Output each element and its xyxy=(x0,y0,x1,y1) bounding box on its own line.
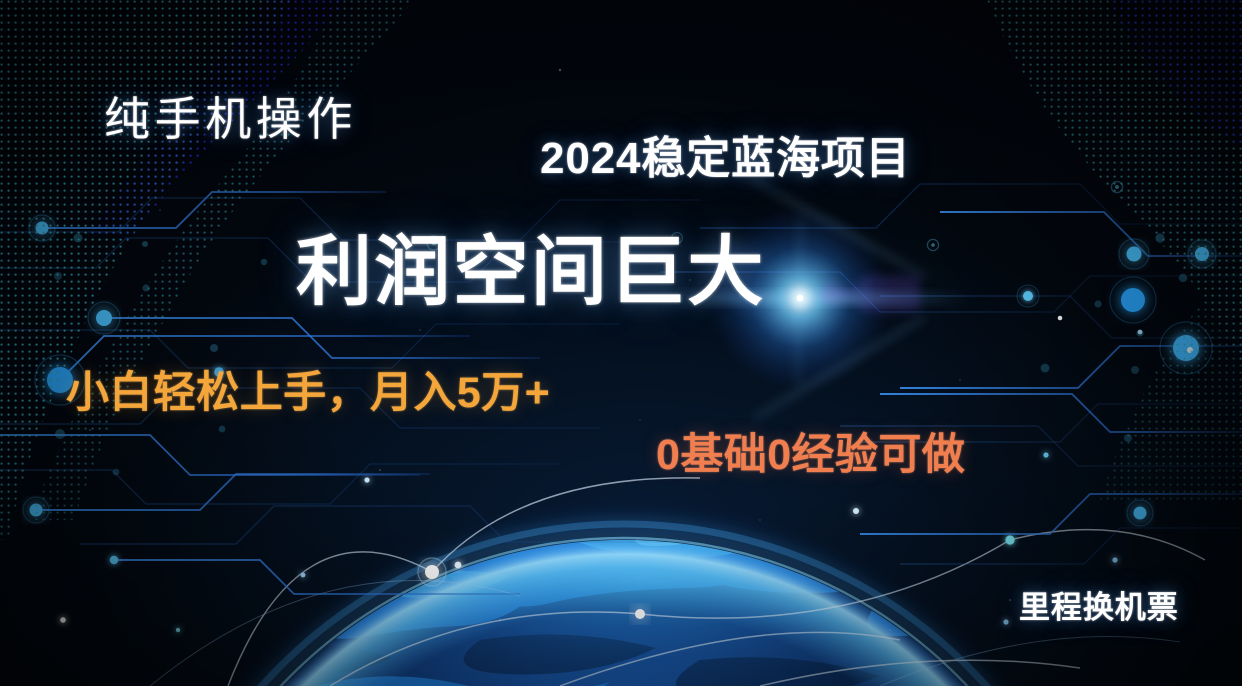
subtitle-text: 2024稳定蓝海项目 xyxy=(540,137,911,181)
headline-text: 利润空间巨大 xyxy=(296,235,766,311)
bullet-one-text: 小白轻松上手，月入5万+ xyxy=(66,372,550,415)
bullet-two-text: 0基础0经验可做 xyxy=(656,434,965,477)
footer-text: 里程换机票 xyxy=(1019,592,1179,623)
poster-canvas: 纯手机操作 2024稳定蓝海项目 利润空间巨大 小白轻松上手，月入5万+ 0基础… xyxy=(0,0,1242,686)
tagline-text: 纯手机操作 xyxy=(104,96,357,142)
